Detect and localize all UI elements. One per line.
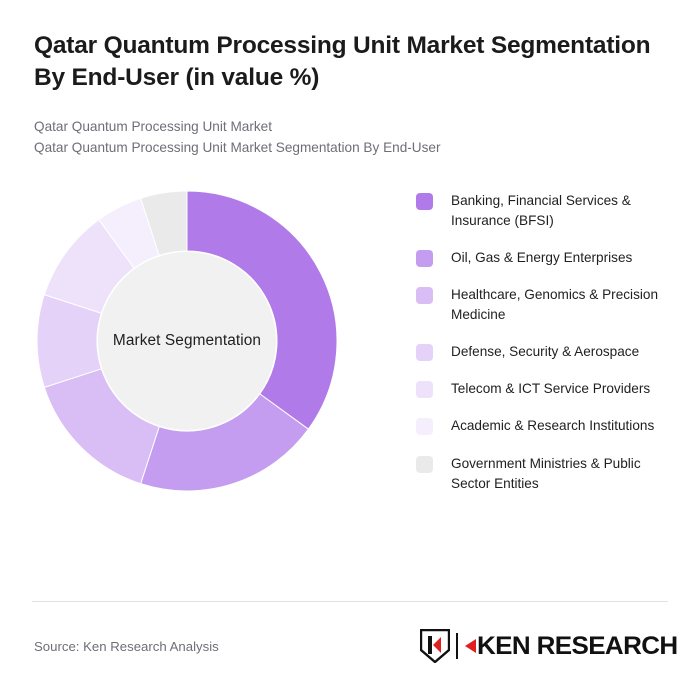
legend-swatch [416,381,433,398]
donut-chart: Market Segmentation [32,185,342,497]
legend-label: Banking, Financial Services & Insurance … [451,191,666,231]
chart-legend: Banking, Financial Services & Insurance … [342,185,666,494]
legend-swatch [416,456,433,473]
legend-swatch [416,418,433,435]
legend-swatch [416,287,433,304]
logo-text: KEN RESEARCH [477,632,678,661]
logo-triangle-icon [465,639,476,653]
legend-item[interactable]: Banking, Financial Services & Insurance … [416,191,666,231]
footer-divider [32,601,668,602]
legend-item[interactable]: Government Ministries & Public Sector En… [416,454,666,494]
legend-label: Defense, Security & Aerospace [451,342,639,362]
source-note: Source: Ken Research Analysis [34,639,219,654]
legend-swatch [416,193,433,210]
donut-hole [98,252,276,430]
subtitle-line-1: Qatar Quantum Processing Unit Market [34,116,666,137]
chart-body: Market Segmentation Banking, Financial S… [0,185,700,537]
donut-svg [32,185,342,497]
legend-label: Telecom & ICT Service Providers [451,379,650,399]
ken-research-logo: KEN RESEARCH [420,629,670,663]
legend-swatch [416,250,433,267]
legend-label: Government Ministries & Public Sector En… [451,454,666,494]
chart-card: Qatar Quantum Processing Unit Market Seg… [0,0,700,688]
logo-separator [456,633,458,659]
legend-item[interactable]: Telecom & ICT Service Providers [416,379,666,399]
legend-swatch [416,344,433,361]
page-title: Qatar Quantum Processing Unit Market Seg… [34,30,666,94]
header: Qatar Quantum Processing Unit Market Seg… [0,0,700,159]
legend-label: Academic & Research Institutions [451,416,654,436]
legend-item[interactable]: Oil, Gas & Energy Enterprises [416,248,666,268]
ken-research-shield-icon [420,629,450,663]
legend-label: Oil, Gas & Energy Enterprises [451,248,632,268]
subtitle-line-2: Qatar Quantum Processing Unit Market Seg… [34,137,666,158]
legend-item[interactable]: Healthcare, Genomics & Precision Medicin… [416,285,666,325]
legend-item[interactable]: Academic & Research Institutions [416,416,666,436]
legend-label: Healthcare, Genomics & Precision Medicin… [451,285,666,325]
legend-item[interactable]: Defense, Security & Aerospace [416,342,666,362]
footer: Source: Ken Research Analysis KEN RESEAR… [34,625,670,667]
subtitle-group: Qatar Quantum Processing Unit Market Qat… [34,116,666,159]
